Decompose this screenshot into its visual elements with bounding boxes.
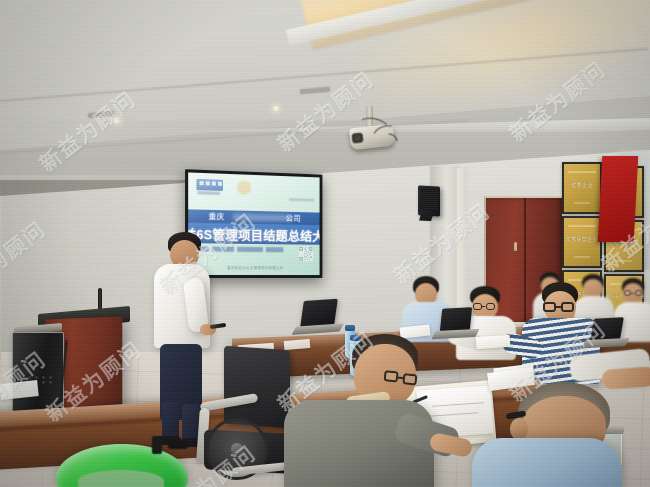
glasses-icon bbox=[473, 303, 497, 311]
torso bbox=[472, 438, 622, 487]
wall-pillar-edge bbox=[457, 168, 467, 318]
laptop[interactable] bbox=[300, 299, 338, 328]
plaque-bottom-line bbox=[574, 202, 590, 204]
glasses-icon bbox=[624, 290, 644, 297]
shoe bbox=[152, 436, 162, 454]
award-plaque: 优秀企业 bbox=[562, 162, 602, 214]
glasses-icon bbox=[543, 302, 577, 313]
trouser-leg bbox=[162, 402, 179, 440]
meeting-room-photo: 优秀企业 先进单位 优秀民营企业 优秀工会组织 优秀民营企业 重庆市优秀民营企业 bbox=[0, 0, 650, 487]
plaque-bottom-line bbox=[616, 260, 632, 262]
red-banner bbox=[598, 156, 639, 242]
downlight bbox=[112, 118, 121, 123]
plaque-label: 优秀民营企业 bbox=[564, 236, 600, 243]
forearm bbox=[601, 366, 650, 390]
laptop[interactable] bbox=[590, 317, 624, 341]
award-plaque: 优秀民营企业 bbox=[562, 216, 602, 268]
speaker-bracket bbox=[419, 215, 433, 222]
attendee-grey-tshirt-foreground bbox=[300, 334, 480, 487]
attendee-arm-right bbox=[540, 352, 650, 412]
wheel-hub bbox=[231, 443, 243, 455]
plaque-bottom-line bbox=[574, 256, 590, 258]
speaker-grill bbox=[420, 188, 438, 211]
chair-cutout bbox=[78, 470, 164, 487]
plaque-top-line bbox=[568, 171, 596, 173]
chair-backrest bbox=[224, 346, 290, 429]
bottle-cap bbox=[345, 325, 355, 331]
ear bbox=[510, 418, 528, 440]
laptop[interactable] bbox=[440, 307, 472, 332]
plaque-label: 优秀企业 bbox=[564, 182, 600, 189]
shoe bbox=[168, 440, 188, 449]
plaque-top-line bbox=[568, 225, 596, 227]
paper-sheet bbox=[476, 335, 511, 349]
door-handle[interactable] bbox=[514, 242, 517, 251]
wall-speaker bbox=[418, 185, 440, 216]
door-split bbox=[524, 198, 526, 322]
downlight bbox=[272, 106, 280, 111]
forearm bbox=[429, 432, 474, 458]
